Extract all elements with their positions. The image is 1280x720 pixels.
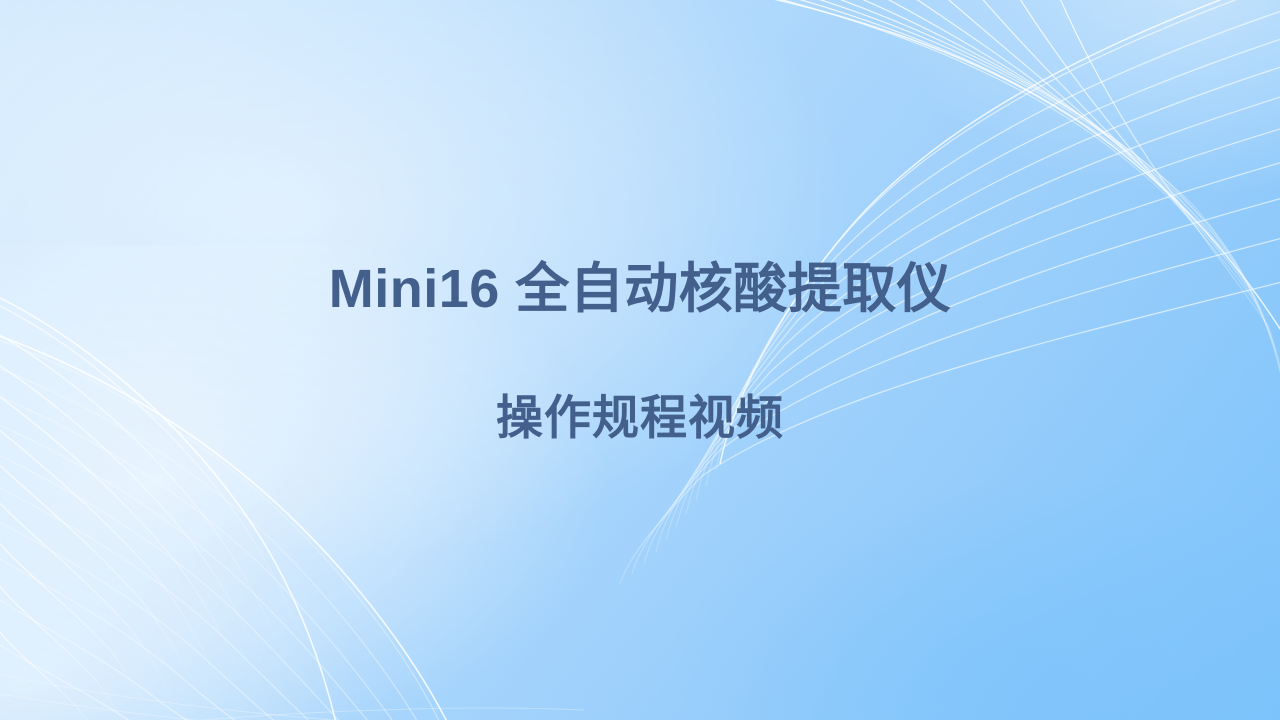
page-title: Mini16 全自动核酸提取仪: [0, 258, 1280, 322]
title-slide: Mini16 全自动核酸提取仪 操作规程视频: [0, 0, 1280, 720]
slide-text-block: Mini16 全自动核酸提取仪 操作规程视频: [0, 258, 1280, 446]
page-subtitle: 操作规程视频: [0, 322, 1280, 446]
background-shade-bottom-right: [666, 475, 1280, 720]
